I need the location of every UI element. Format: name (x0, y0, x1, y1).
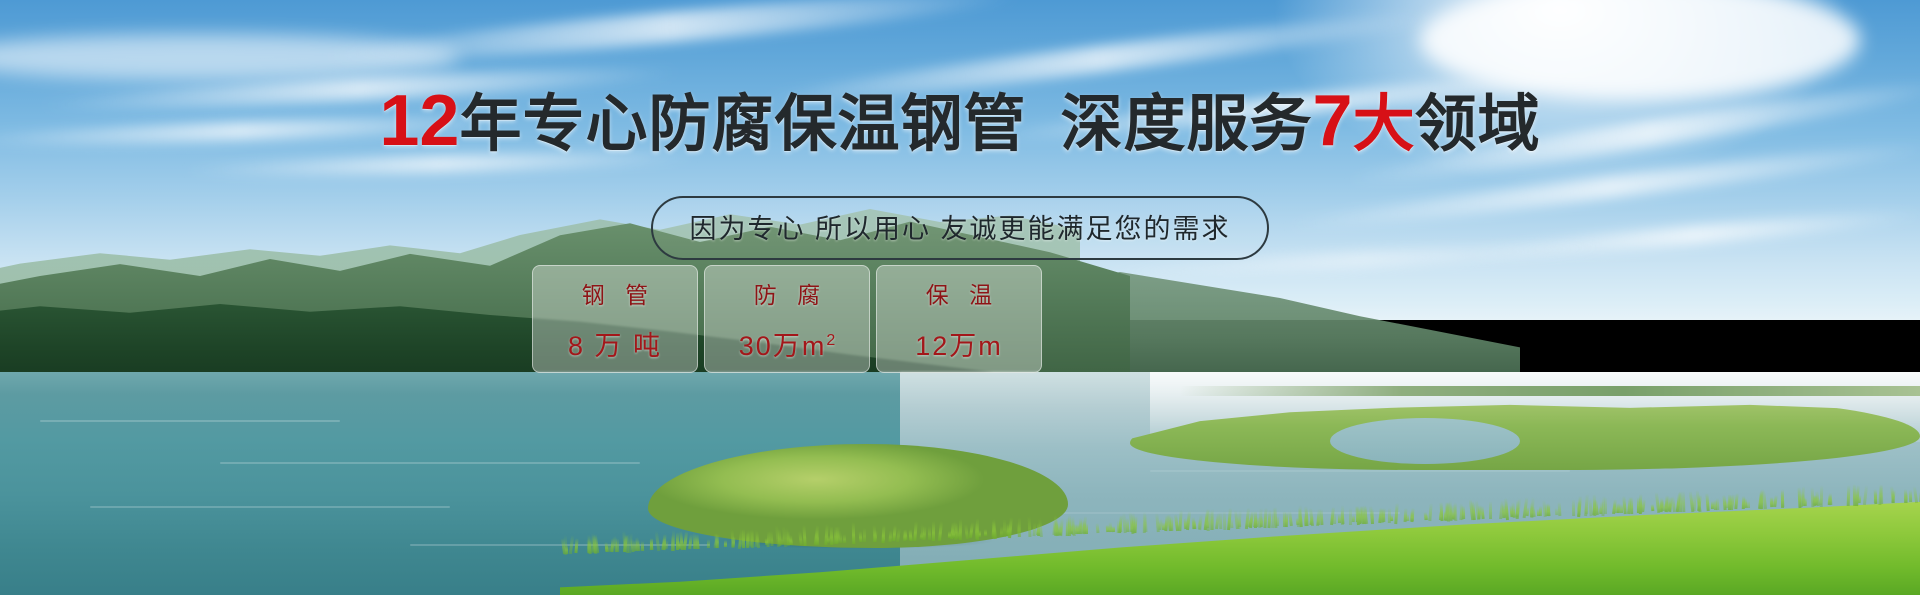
grass-blade (769, 531, 773, 546)
water-ripple (220, 462, 640, 464)
grass-blade (1620, 504, 1623, 513)
grass-blade (1394, 502, 1398, 523)
grass-blade (1371, 509, 1374, 524)
grass-blade (654, 531, 660, 551)
headline-big-char: 大 (1353, 90, 1415, 159)
stat-value-superscript: 2 (826, 332, 835, 349)
stat-card-value: 12万m (915, 324, 1003, 363)
stat-value-text: 12万m (915, 331, 1003, 361)
headline-fields-text: 领域 (1415, 90, 1541, 159)
grass-blade (1714, 500, 1717, 510)
grass-blade (852, 522, 856, 544)
grass-blade (616, 538, 619, 552)
grass-blade (1429, 503, 1433, 521)
stat-card-value: 8 万 吨 (568, 324, 662, 363)
stat-card-value: 30万m2 (739, 324, 835, 363)
grass-blade (1771, 498, 1775, 508)
grass-blade (1697, 494, 1702, 511)
grass-blade (1489, 501, 1492, 519)
water-ripple (40, 420, 340, 422)
grass-blade (1829, 493, 1833, 505)
grass-blade (932, 521, 935, 541)
grass-blade (1338, 514, 1341, 523)
grass-blade (1530, 506, 1533, 517)
headline-years-text: 年专心防腐保温钢管 (459, 90, 1026, 159)
grass-blade (707, 539, 710, 548)
headline-service-text: 深度服务 (1061, 90, 1313, 159)
grass-blade (1065, 517, 1069, 535)
grass-blade (1411, 513, 1414, 521)
grass-blade (569, 535, 574, 555)
grass-blade (1018, 517, 1021, 537)
grass-blade (1909, 490, 1912, 502)
grass-blade (1781, 489, 1784, 508)
grass-blade (803, 525, 807, 546)
grass-blade (1658, 502, 1661, 512)
far-shoreline (1180, 386, 1920, 396)
grass-blade (1425, 513, 1429, 520)
stat-card-steel-pipe: 钢 管 8 万 吨 (532, 265, 698, 373)
grass-blade (873, 525, 877, 543)
headline-seven-number: 7 (1313, 81, 1353, 161)
grass-blade (1585, 506, 1588, 514)
grass-blade (565, 544, 568, 554)
stat-cards: 钢 管 8 万 吨 防 腐 30万m2 保 温 12万m (532, 265, 1042, 373)
water-ripple (1150, 470, 1570, 472)
grass-blade (723, 540, 726, 547)
grass-blade (948, 531, 951, 538)
grass-blade (838, 533, 842, 543)
headline-years-number: 12 (379, 81, 459, 161)
grass-blade (1211, 509, 1214, 530)
stat-card-insulation: 保 温 12万m (876, 265, 1042, 373)
stat-card-anticorrosion: 防 腐 30万m2 (704, 265, 870, 373)
tagline-pill: 因为专心 所以用心 友诚更能满足您的需求 (651, 196, 1268, 260)
grass-blade (992, 518, 997, 538)
grass-blade (1144, 514, 1148, 532)
hero-banner: 12年专心防腐保温钢管深度服务7大领域 因为专心 所以用心 友诚更能满足您的需求… (0, 0, 1920, 595)
grass-blade (1747, 501, 1750, 508)
grass-blade (1846, 485, 1850, 506)
water-inlet (1330, 418, 1520, 464)
grass-blade (1245, 518, 1249, 528)
grass-blade (1206, 520, 1209, 528)
grass-blade (1186, 511, 1191, 531)
grass-blade (1558, 502, 1562, 516)
grass-blade (1462, 506, 1465, 519)
grass-blade (1083, 524, 1087, 533)
grass-blade (641, 541, 644, 551)
grass-blade (1546, 504, 1550, 516)
stat-card-title: 保 温 (919, 276, 999, 310)
grass-blade (1616, 503, 1619, 514)
grass-blade (976, 518, 979, 540)
grass-blade (1651, 504, 1655, 511)
grass-blade (1735, 493, 1739, 509)
grass-blade (1724, 500, 1728, 509)
grass-blade (1112, 526, 1115, 532)
grass-blade (1230, 519, 1234, 528)
water-ripple (90, 506, 450, 508)
grass-blade (969, 522, 974, 539)
grass-blade (1706, 493, 1710, 511)
stat-card-title: 钢 管 (575, 276, 655, 310)
grass-blades (560, 496, 1920, 556)
grass-blade (1263, 508, 1267, 528)
grass-blade (919, 532, 923, 539)
grass-blade (574, 538, 578, 553)
grass-blade (1803, 498, 1807, 506)
grass-blade (1663, 503, 1666, 512)
grass-blade (1571, 499, 1574, 516)
grass-blade (983, 529, 986, 537)
grass-blade (1880, 485, 1883, 504)
grass-blade (1170, 516, 1174, 531)
stat-value-text: 30万m (739, 331, 827, 361)
grass-blade (741, 529, 744, 548)
grass-blade (863, 528, 866, 542)
grass-blade (938, 521, 943, 541)
grass-blade (1238, 509, 1242, 529)
tagline-container: 因为专心 所以用心 友诚更能满足您的需求 (0, 196, 1920, 260)
grass-blade (777, 529, 781, 546)
grass-blade (913, 521, 918, 541)
grass-blade (1178, 510, 1182, 531)
grass-blade (1388, 508, 1391, 523)
grass-blade (1095, 523, 1099, 533)
grass-blade (903, 531, 907, 541)
grass-blade (1577, 500, 1582, 516)
grass-blade (1537, 509, 1540, 516)
grass-blade (1317, 514, 1320, 525)
grass-blade (671, 535, 674, 551)
grass-blade (1223, 511, 1227, 530)
grass-blade (731, 536, 735, 547)
grass-blade (1254, 511, 1257, 528)
headline: 12年专心防腐保温钢管深度服务7大领域 (0, 84, 1920, 160)
grass-blade (896, 527, 901, 541)
grass-blade (1122, 513, 1126, 534)
grass-blade (1288, 511, 1293, 527)
grass-blade (1285, 512, 1288, 527)
grass-blade (1027, 516, 1031, 537)
grass-blade (696, 534, 700, 549)
grass-blade (1742, 496, 1745, 509)
grass-blade (843, 534, 846, 543)
stat-value-text: 8 万 吨 (568, 331, 662, 361)
grass-blade (1711, 501, 1714, 509)
grass-blade (1198, 514, 1203, 530)
grass-blade (1360, 506, 1364, 524)
grass-blade (1003, 519, 1006, 537)
grass-blade (1481, 506, 1485, 519)
grass-blade (1874, 492, 1877, 503)
grass-blade (1863, 485, 1868, 505)
stat-card-title: 防 腐 (747, 276, 827, 310)
grass-blade (964, 524, 969, 539)
grass-blade (1341, 505, 1344, 525)
